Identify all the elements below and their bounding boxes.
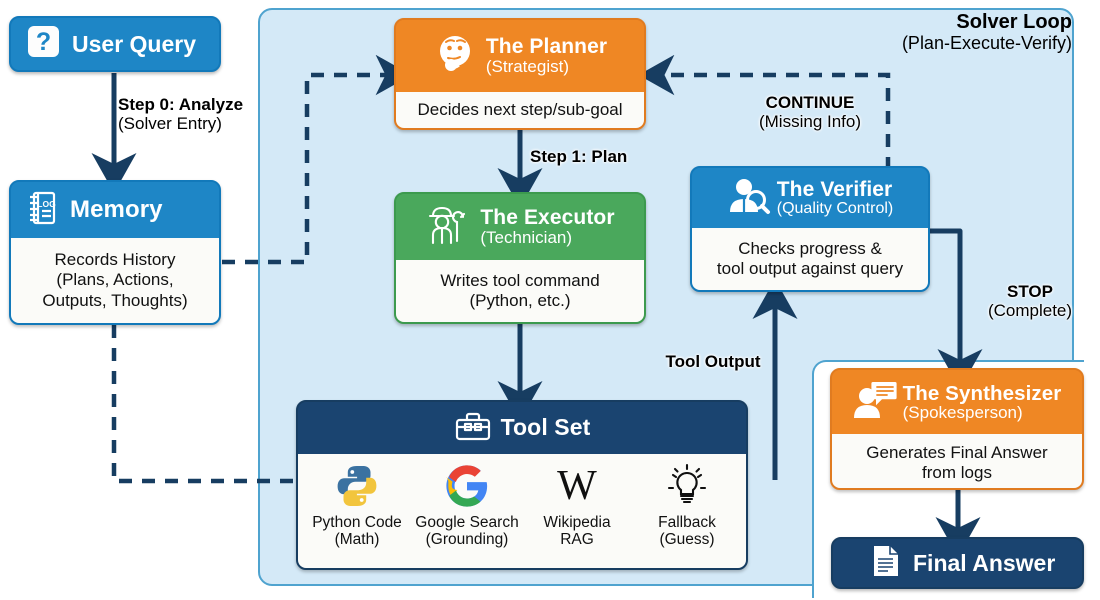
memory-header: LOG Memory: [11, 182, 219, 238]
executor-title: The Executor: [480, 207, 614, 229]
final-answer-label: Final Answer: [913, 550, 1055, 577]
edge-label-continue: CONTINUE (Missing Info): [730, 94, 890, 131]
verifier-body: Checks progress & tool output against qu…: [692, 228, 928, 290]
solver-loop-title-line2: (Plan-Execute-Verify): [844, 34, 1072, 53]
user-query-node[interactable]: ? User Query: [9, 16, 221, 72]
synthesizer-title-wrap: The Synthesizer (Spokesperson): [903, 383, 1062, 422]
memory-title: Memory: [70, 198, 163, 223]
synthesizer-header: The Synthesizer (Spokesperson): [832, 370, 1082, 434]
verifier-title: The Verifier: [777, 179, 893, 201]
synthesizer-title: The Synthesizer: [903, 383, 1062, 404]
python-logo-icon: [334, 462, 380, 510]
executor-title-wrap: The Executor (Technician): [480, 207, 614, 246]
synthesizer-body-line-2: from logs: [922, 463, 992, 483]
tool-set-header: Tool Set: [298, 402, 746, 454]
wikipedia-w-icon: W: [552, 462, 602, 510]
toolbox-icon: [454, 410, 492, 447]
edge-label-stop-normal: (Complete): [970, 302, 1090, 321]
google-logo-icon: [444, 462, 490, 510]
planner-subtitle: (Strategist): [486, 58, 607, 76]
synthesizer-node[interactable]: The Synthesizer (Spokesperson) Generates…: [830, 368, 1084, 490]
tool-item-wikipedia[interactable]: W Wikipedia RAG: [522, 462, 632, 549]
planner-body-line-1: Decides next step/sub-goal: [417, 100, 622, 120]
edge-label-continue-bold: CONTINUE: [730, 94, 890, 113]
tool-set-title: Tool Set: [501, 416, 591, 440]
tool-python-line2: (Math): [312, 531, 402, 548]
memory-body-line-2: (Plans, Actions,: [56, 270, 173, 290]
tool-fallback-line2: (Guess): [658, 531, 716, 548]
tool-wikipedia-line1: Wikipedia: [543, 514, 610, 531]
executor-body-line-1: Writes tool command: [440, 271, 599, 291]
executor-subtitle: (Technician): [480, 229, 614, 247]
svg-text:W: W: [557, 463, 597, 509]
executor-body: Writes tool command (Python, etc.): [396, 260, 644, 322]
tool-wikipedia-line2: RAG: [543, 531, 610, 548]
tool-item-python[interactable]: Python Code (Math): [302, 462, 412, 549]
question-mark-icon: ?: [27, 25, 60, 63]
tool-google-line1: Google Search: [415, 514, 518, 531]
svg-text:?: ?: [36, 28, 51, 56]
edge-label-continue-normal: (Missing Info): [730, 113, 890, 132]
tool-list: Python Code (Math) Google Search (Ground…: [298, 454, 746, 570]
verifier-body-line-2: tool output against query: [717, 259, 903, 279]
memory-title-wrap: Memory: [70, 198, 163, 223]
tool-item-google-label: Google Search (Grounding): [415, 514, 518, 549]
notebook-log-icon: LOG: [25, 189, 61, 232]
verifier-node[interactable]: The Verifier (Quality Control) Checks pr…: [690, 166, 930, 292]
person-speech-bubble-icon: [853, 380, 897, 425]
synthesizer-subtitle: (Spokesperson): [903, 404, 1062, 422]
edge-label-step0-bold: Step 0: Analyze: [118, 96, 288, 115]
tool-google-line2: (Grounding): [415, 531, 518, 548]
planner-body: Decides next step/sub-goal: [396, 92, 644, 128]
tool-python-line1: Python Code: [312, 514, 402, 531]
memory-node[interactable]: LOG Memory Records History (Plans, Actio…: [9, 180, 221, 325]
tool-item-fallback[interactable]: Fallback (Guess): [632, 462, 742, 549]
planner-node[interactable]: The Planner (Strategist) Decides next st…: [394, 18, 646, 130]
verifier-title-wrap: The Verifier (Quality Control): [777, 179, 893, 217]
person-magnifier-icon: [727, 176, 771, 221]
planner-title: The Planner: [486, 36, 607, 58]
memory-body: Records History (Plans, Actions, Outputs…: [11, 238, 219, 323]
tool-item-google[interactable]: Google Search (Grounding): [412, 462, 522, 549]
tool-set-title-wrap: Tool Set: [501, 416, 591, 440]
svg-text:LOG: LOG: [37, 199, 56, 209]
diagram-canvas: Solver Loop (Plan-Execute-Verify): [0, 0, 1100, 600]
memory-body-line-1: Records History: [55, 250, 176, 270]
planner-header: The Planner (Strategist): [396, 20, 644, 92]
document-icon: [871, 544, 901, 583]
edge-label-step1-bold: Step 1: Plan: [530, 148, 670, 167]
verifier-header: The Verifier (Quality Control): [692, 168, 928, 228]
edge-label-step0-normal: (Solver Entry): [118, 115, 288, 134]
thinking-face-icon: [433, 32, 477, 81]
edge-label-step0: Step 0: Analyze (Solver Entry): [118, 96, 288, 133]
tool-fallback-line1: Fallback: [658, 514, 716, 531]
synthesizer-body-line-1: Generates Final Answer: [866, 443, 1047, 463]
user-query-label: User Query: [72, 31, 196, 58]
solver-loop-title: Solver Loop (Plan-Execute-Verify): [844, 12, 1072, 53]
edge-label-tool-output-bold: Tool Output: [648, 353, 778, 372]
tool-set-node[interactable]: Tool Set Python Code (Math): [296, 400, 748, 570]
tool-item-python-label: Python Code (Math): [312, 514, 402, 549]
verifier-body-line-1: Checks progress &: [738, 239, 882, 259]
technician-worker-icon: [425, 203, 471, 252]
planner-title-wrap: The Planner (Strategist): [486, 36, 607, 75]
verifier-subtitle: (Quality Control): [777, 201, 893, 217]
edge-label-stop: STOP (Complete): [970, 283, 1090, 320]
memory-body-line-3: Outputs, Thoughts): [42, 291, 187, 311]
executor-header: The Executor (Technician): [396, 194, 644, 260]
synthesizer-body: Generates Final Answer from logs: [832, 434, 1082, 490]
edge-label-tool-output: Tool Output: [648, 353, 778, 372]
tool-item-wikipedia-label: Wikipedia RAG: [543, 514, 610, 549]
final-answer-node[interactable]: Final Answer: [831, 537, 1084, 589]
tool-item-fallback-label: Fallback (Guess): [658, 514, 716, 549]
executor-body-line-2: (Python, etc.): [469, 291, 570, 311]
executor-node[interactable]: The Executor (Technician) Writes tool co…: [394, 192, 646, 324]
edge-label-step1: Step 1: Plan: [530, 148, 670, 167]
solver-loop-title-line1: Solver Loop: [844, 12, 1072, 34]
lightbulb-icon: [664, 462, 710, 510]
edge-label-stop-bold: STOP: [970, 283, 1090, 302]
